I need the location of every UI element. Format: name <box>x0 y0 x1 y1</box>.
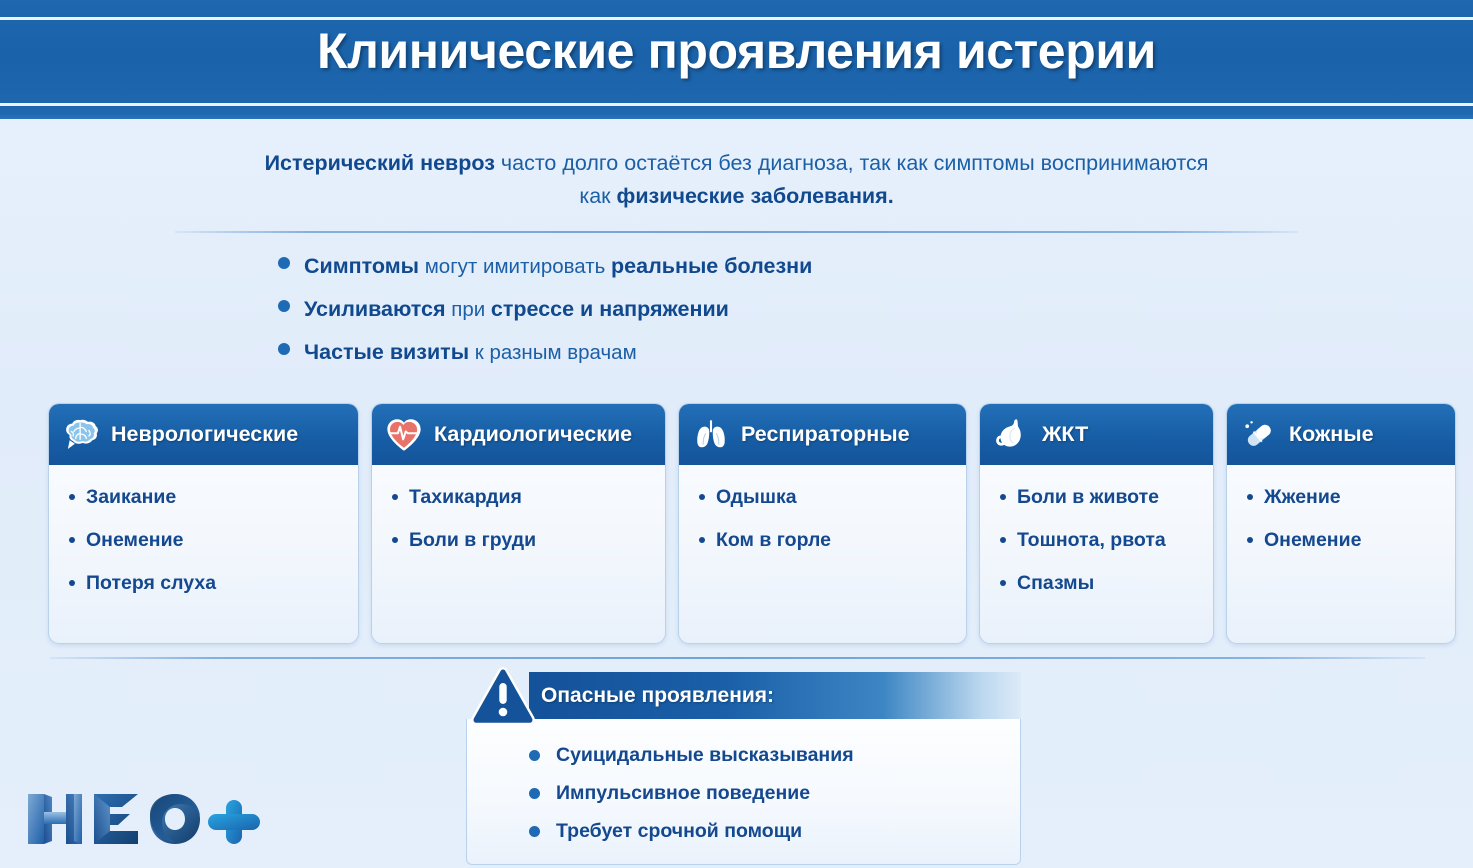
bullet-dot-icon <box>278 300 290 312</box>
list-item: Потеря слуха <box>69 571 346 596</box>
card-header: ЖКТ <box>980 404 1213 465</box>
bullet-dot-icon <box>1000 580 1006 586</box>
bullet-dot-icon <box>529 750 540 761</box>
bullet-text: Усиливаются при стрессе и напряжении <box>304 297 729 322</box>
bullet-dot-icon <box>1000 494 1006 500</box>
bullet-dot-icon <box>529 826 540 837</box>
list-item-label: Боли в груди <box>409 528 536 553</box>
list-item: Частые визиты к разным врачам <box>278 340 1278 383</box>
list-item: Усиливаются при стрессе и напряжении <box>278 297 1278 340</box>
header-rule-bottom <box>0 103 1473 106</box>
bullet-lead: Частые визиты <box>304 340 469 364</box>
symptom-category-cards: Неврологические Заикание Онемение Потеря… <box>48 403 1456 644</box>
list-item: Ком в горле <box>699 528 954 553</box>
card-cardiological: Кардиологические Тахикардия Боли в груди <box>371 403 666 644</box>
card-header: Неврологические <box>49 404 358 465</box>
bullet-dot-icon <box>699 537 705 543</box>
intro-line1-rest: часто долго остаётся без диагноза, так к… <box>495 151 1208 175</box>
card-neurological: Неврологические Заикание Онемение Потеря… <box>48 403 359 644</box>
bullet-dot-icon <box>278 257 290 269</box>
card-header: Респираторные <box>679 404 966 465</box>
list-item-label: Требует срочной помощи <box>556 820 802 843</box>
key-points-list: Симптомы могут имитировать реальные боле… <box>278 254 1278 383</box>
bullet-tail: стрессе и напряжении <box>491 297 729 321</box>
list-item-label: Заикание <box>86 485 176 510</box>
bullet-mid: могут имитировать <box>419 255 611 278</box>
list-item: Онемение <box>69 528 346 553</box>
intro-line2-lead: как <box>579 184 616 208</box>
list-item-label: Импульсивное поведение <box>556 782 810 805</box>
list-item: Жжение <box>1247 485 1443 510</box>
card-body: Заикание Онемение Потеря слуха <box>49 465 358 643</box>
bullet-lead: Симптомы <box>304 254 419 278</box>
list-item: Суицидальные высказывания <box>529 736 1004 774</box>
list-item: Симптомы могут имитировать реальные боле… <box>278 254 1278 297</box>
heart-pulse-icon <box>383 414 425 456</box>
card-dermatological: Кожные Жжение Онемение <box>1226 403 1456 644</box>
neo-plus-logo <box>22 788 262 850</box>
bullet-mid: при <box>446 298 491 321</box>
bandage-icon <box>1238 414 1280 456</box>
bullet-text: Симптомы могут имитировать реальные боле… <box>304 254 812 279</box>
card-body: Жжение Онемение <box>1227 465 1455 643</box>
bullet-dot-icon <box>392 494 398 500</box>
list-item-label: Онемение <box>1264 528 1361 553</box>
card-header: Кожные <box>1227 404 1455 465</box>
bullet-mid: к разным врачам <box>469 341 637 364</box>
list-item: Тахикардия <box>392 485 653 510</box>
header-rule-top <box>0 17 1473 20</box>
card-title: ЖКТ <box>1042 422 1088 447</box>
list-item-label: Одышка <box>716 485 797 510</box>
bullet-dot-icon <box>1000 537 1006 543</box>
bullet-dot-icon <box>69 537 75 543</box>
danger-callout: Опасные проявления: Суицидальные высказы… <box>466 672 1021 865</box>
card-title: Респираторные <box>741 422 910 447</box>
danger-callout-body: Суицидальные высказывания Импульсивное п… <box>466 719 1021 865</box>
list-item: Боли в животе <box>1000 485 1201 510</box>
list-item: Импульсивное поведение <box>529 774 1004 812</box>
bullet-dot-icon <box>69 580 75 586</box>
card-title: Кардиологические <box>434 422 632 447</box>
page-title: Клинические проявления истерии <box>0 22 1473 80</box>
bullet-text: Частые визиты к разным врачам <box>304 340 637 365</box>
stomach-icon <box>991 414 1033 456</box>
brain-icon <box>60 414 102 456</box>
list-item-label: Ком в горле <box>716 528 831 553</box>
divider-under-cards <box>50 657 1425 659</box>
card-title: Неврологические <box>111 422 298 447</box>
bullet-dot-icon <box>699 494 705 500</box>
bullet-dot-icon <box>1247 494 1253 500</box>
bullet-tail: реальные болезни <box>611 254 812 278</box>
danger-callout-header: Опасные проявления: <box>529 672 1021 719</box>
card-body: Боли в животе Тошнота, рвота Спазмы <box>980 465 1213 643</box>
card-gastrointestinal: ЖКТ Боли в животе Тошнота, рвота Спазмы <box>979 403 1214 644</box>
list-item: Тошнота, рвота <box>1000 528 1201 553</box>
bullet-dot-icon <box>69 494 75 500</box>
lungs-icon <box>690 414 732 456</box>
bullet-dot-icon <box>1247 537 1253 543</box>
bullet-dot-icon <box>278 343 290 355</box>
list-item-label: Онемение <box>86 528 183 553</box>
list-item-label: Тошнота, рвота <box>1017 528 1166 553</box>
bullet-lead: Усиливаются <box>304 297 446 321</box>
header-band: Клинические проявления истерии <box>0 0 1473 113</box>
list-item-label: Суицидальные высказывания <box>556 744 854 767</box>
header-accent-strip <box>0 113 1473 119</box>
intro-bold-lead: Истерический невроз <box>265 151 495 175</box>
warning-triangle-icon <box>466 665 540 727</box>
list-item: Требует срочной помощи <box>529 812 1004 850</box>
card-header: Кардиологические <box>372 404 665 465</box>
bullet-dot-icon <box>529 788 540 799</box>
card-body: Тахикардия Боли в груди <box>372 465 665 643</box>
list-item: Одышка <box>699 485 954 510</box>
divider-under-intro <box>175 231 1298 233</box>
list-item-label: Боли в животе <box>1017 485 1159 510</box>
list-item-label: Жжение <box>1264 485 1341 510</box>
danger-callout-title: Опасные проявления: <box>541 684 774 708</box>
infographic-poster: Клинические проявления истерии Истеричес… <box>0 0 1473 868</box>
intro-bold-tail: физические заболевания. <box>617 184 894 208</box>
card-title: Кожные <box>1289 422 1374 447</box>
list-item-label: Спазмы <box>1017 571 1094 596</box>
list-item-label: Тахикардия <box>409 485 522 510</box>
list-item: Спазмы <box>1000 571 1201 596</box>
bullet-dot-icon <box>392 537 398 543</box>
card-respiratory: Респираторные Одышка Ком в горле <box>678 403 967 644</box>
list-item: Заикание <box>69 485 346 510</box>
list-item: Боли в груди <box>392 528 653 553</box>
list-item-label: Потеря слуха <box>86 571 216 596</box>
card-body: Одышка Ком в горле <box>679 465 966 643</box>
list-item: Онемение <box>1247 528 1443 553</box>
intro-paragraph: Истерический невроз часто долго остаётся… <box>180 147 1293 213</box>
